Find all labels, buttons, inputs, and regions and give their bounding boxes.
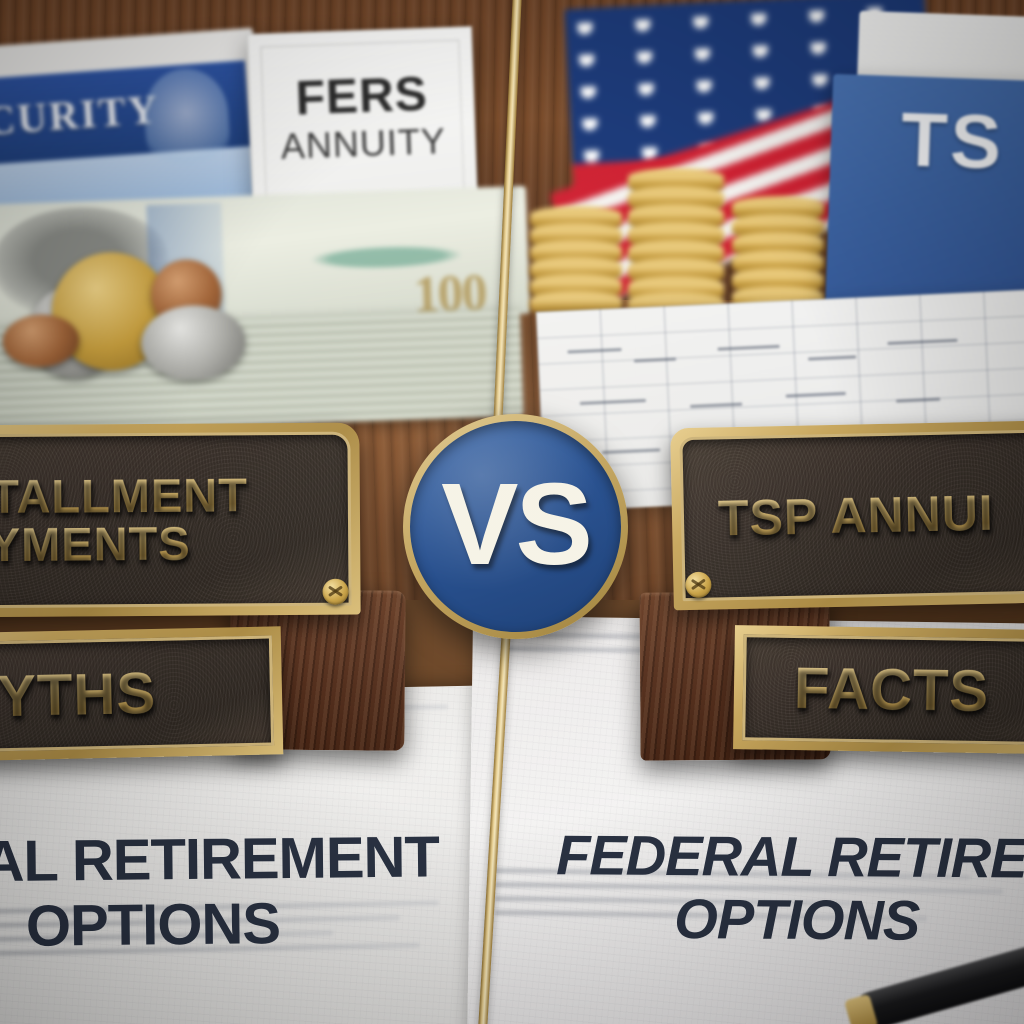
versus-badge-label: VS bbox=[441, 466, 590, 582]
plaque-label-line2: AYMENTS bbox=[0, 519, 248, 569]
plaque-installment-payments[interactable]: STALLMENT AYMENTS bbox=[0, 423, 361, 618]
plaque-facts[interactable]: FACTS bbox=[733, 625, 1024, 755]
plaque-label: TSP ANNUI bbox=[683, 484, 994, 548]
fers-annuity-card: FERS ANNUITY bbox=[247, 26, 478, 214]
plaque-label-line1: STALLMENT bbox=[0, 471, 248, 521]
headline-right-line1: FEDERAL RETIREM bbox=[556, 824, 1024, 890]
tsp-folder: TS bbox=[825, 16, 1024, 324]
coin-stack bbox=[530, 206, 622, 322]
plaque-face: TSP ANNUI bbox=[679, 429, 1024, 601]
plaque-label: FACTS bbox=[745, 654, 989, 725]
tsp-folder-label: TS bbox=[900, 96, 1006, 187]
fers-card-subtitle: ANNUITY bbox=[251, 119, 475, 169]
headline-left-line1: RAL RETIREMENT bbox=[0, 825, 439, 895]
headline-right: FEDERAL RETIREM OPTIONS bbox=[556, 824, 1024, 953]
headline-right-line2: OPTIONS bbox=[556, 887, 1024, 953]
cash-stack: 100 bbox=[0, 186, 534, 436]
coin-stack bbox=[628, 168, 724, 320]
plaque-tsp-annuity[interactable]: TSP ANNUI bbox=[670, 420, 1024, 611]
plaque-face: MYTHS bbox=[0, 635, 274, 752]
headline-left-line2: OPTIONS bbox=[0, 890, 440, 960]
plaque-text-block: STALLMENT AYMENTS bbox=[0, 471, 248, 569]
plaque-myths[interactable]: MYTHS bbox=[0, 626, 283, 761]
screw-icon bbox=[322, 579, 348, 605]
plaque-face: STALLMENT AYMENTS bbox=[0, 432, 352, 609]
versus-badge-disc: VS bbox=[410, 421, 621, 632]
plaque-face: FACTS bbox=[742, 634, 1024, 745]
versus-graphic-canvas: ECURITY FERS ANNUITY 100 bbox=[0, 0, 1024, 1024]
headline-left: RAL RETIREMENT OPTIONS bbox=[0, 825, 440, 960]
plaque-label: MYTHS bbox=[0, 659, 157, 731]
versus-badge[interactable]: VS bbox=[403, 414, 628, 639]
fers-card-title: FERS bbox=[249, 65, 474, 128]
